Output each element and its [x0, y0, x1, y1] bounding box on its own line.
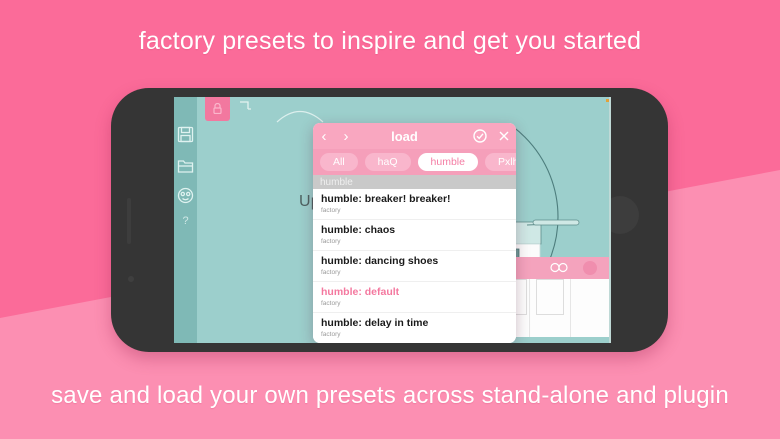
- black-key[interactable]: [536, 279, 564, 315]
- check-circle-icon: [473, 129, 487, 143]
- headline-top: factory presets to inspire and get you s…: [0, 27, 780, 56]
- lock-icon: [213, 103, 222, 114]
- loop-icon[interactable]: [549, 262, 569, 273]
- phone-speaker: [127, 198, 131, 244]
- preset-bank-tabs[interactable]: All haQ humble Pxlh: [313, 149, 516, 175]
- preset-name: humble: default: [321, 286, 508, 299]
- power-icon[interactable]: [583, 261, 597, 275]
- app-sidebar: ?: [174, 97, 197, 343]
- help-icon[interactable]: ?: [174, 215, 197, 227]
- confirm-button[interactable]: [468, 129, 492, 143]
- preset-section-header: humble: [313, 175, 516, 189]
- knob-face-icon[interactable]: [177, 187, 194, 204]
- list-item[interactable]: humble: delay in time factory: [313, 313, 516, 343]
- save-icon[interactable]: [177, 126, 194, 143]
- list-item-selected[interactable]: humble: default factory: [313, 282, 516, 313]
- list-item[interactable]: humble: dancing shoes factory: [313, 251, 516, 282]
- white-key[interactable]: [571, 279, 611, 337]
- dialog-title: load: [341, 129, 468, 144]
- tab-all[interactable]: All: [320, 153, 358, 171]
- preset-source: factory: [321, 268, 508, 278]
- preset-source: factory: [321, 237, 508, 247]
- preset-list[interactable]: humble: breaker! breaker! factory humble…: [313, 189, 516, 343]
- preset-source: factory: [321, 330, 508, 340]
- preset-source: factory: [321, 206, 508, 216]
- preset-source: factory: [321, 299, 508, 309]
- preset-name: humble: breaker! breaker!: [321, 193, 508, 206]
- tab-pxlh[interactable]: Pxlh: [485, 153, 516, 171]
- back-button[interactable]: ‹: [313, 129, 335, 144]
- preset-name: humble: delay in time: [321, 317, 508, 330]
- preset-name: humble: dancing shoes: [321, 255, 508, 268]
- close-icon: [498, 130, 510, 142]
- app-toolbar: [197, 97, 611, 123]
- tab-haq[interactable]: haQ: [365, 153, 411, 171]
- load-preset-dialog: ‹ › load All haQ humble Pxlh: [313, 123, 516, 343]
- phone-screen: ? UpdateStar.com ‹ › load: [174, 97, 611, 343]
- screen-corner-dot: [606, 99, 609, 102]
- phone-camera: [128, 276, 134, 282]
- phone-mockup: ? UpdateStar.com ‹ › load: [111, 88, 668, 352]
- envelope-icon[interactable]: [239, 101, 252, 113]
- folder-icon[interactable]: [177, 157, 194, 174]
- list-item[interactable]: humble: chaos factory: [313, 220, 516, 251]
- preset-name: humble: chaos: [321, 224, 508, 237]
- tab-humble[interactable]: humble: [418, 153, 478, 171]
- list-item[interactable]: humble: breaker! breaker! factory: [313, 189, 516, 220]
- close-button[interactable]: [492, 130, 516, 142]
- headline-bottom: save and load your own presets across st…: [0, 382, 780, 410]
- curve-icon: [275, 103, 325, 123]
- screen-edge-highlight: [609, 97, 611, 343]
- dialog-header: ‹ › load: [313, 123, 516, 149]
